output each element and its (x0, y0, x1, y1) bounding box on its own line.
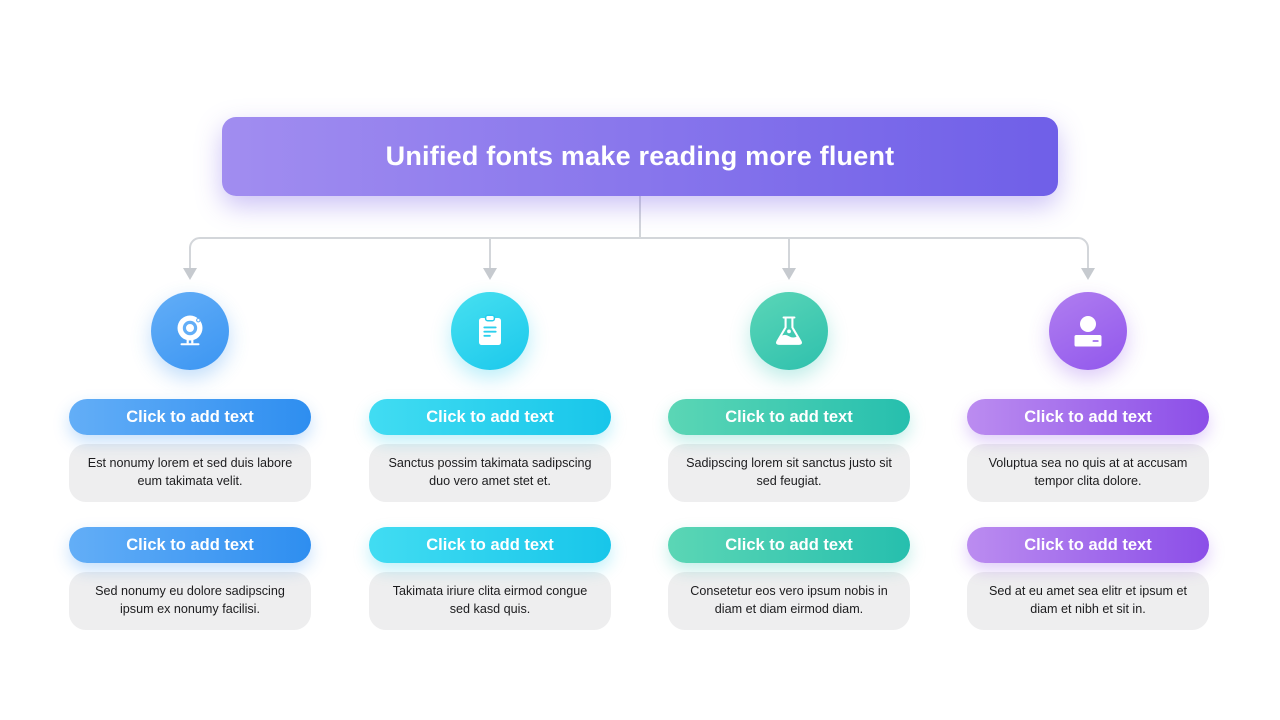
description-text: Sed at eu amet sea elitr et ipsum et dia… (983, 583, 1193, 619)
description-3-2: Consetetur eos vero ipsum nobis in diam … (668, 572, 910, 630)
cta-button-3-1[interactable]: Click to add text (668, 399, 910, 435)
description-3-1: Sadipscing lorem sit sanctus justo sit s… (668, 444, 910, 502)
column-3: Click to add text Sadipscing lorem sit s… (668, 292, 910, 630)
icon-circle-2[interactable] (451, 292, 529, 370)
cta-button-label: Click to add text (1024, 536, 1151, 555)
icon-circle-3[interactable] (750, 292, 828, 370)
page-title-text: Unified fonts make reading more fluent (386, 141, 895, 172)
icon-circle-1[interactable] (151, 292, 229, 370)
user-id-icon (1068, 311, 1108, 351)
flask-icon (768, 310, 810, 352)
cta-button-1-2[interactable]: Click to add text (69, 527, 311, 563)
column-1: Click to add text Est nonumy lorem et se… (69, 292, 311, 630)
description-2-2: Takimata iriure clita eirmod congue sed … (369, 572, 611, 630)
cta-button-label: Click to add text (725, 408, 852, 427)
column-2: Click to add text Sanctus possim takimat… (369, 292, 611, 630)
description-4-2: Sed at eu amet sea elitr et ipsum et dia… (967, 572, 1209, 630)
cta-button-label: Click to add text (1024, 408, 1151, 427)
clipboard-icon (470, 311, 510, 351)
cta-button-4-1[interactable]: Click to add text (967, 399, 1209, 435)
cta-button-4-2[interactable]: Click to add text (967, 527, 1209, 563)
cta-button-label: Click to add text (126, 536, 253, 555)
cta-button-label: Click to add text (725, 536, 852, 555)
description-text: Consetetur eos vero ipsum nobis in diam … (684, 583, 894, 619)
icon-circle-4[interactable] (1049, 292, 1127, 370)
description-text: Sed nonumy eu dolore sadipscing ipsum ex… (85, 583, 295, 619)
description-1-2: Sed nonumy eu dolore sadipscing ipsum ex… (69, 572, 311, 630)
description-text: Sanctus possim takimata sadipscing duo v… (385, 455, 595, 491)
description-4-1: Voluptua sea no quis at at accusam tempo… (967, 444, 1209, 502)
description-1-1: Est nonumy lorem et sed duis labore eum … (69, 444, 311, 502)
description-text: Est nonumy lorem et sed duis labore eum … (85, 455, 295, 491)
webcam-icon (170, 311, 210, 351)
cta-button-label: Click to add text (126, 408, 253, 427)
description-text: Takimata iriure clita eirmod congue sed … (385, 583, 595, 619)
cta-button-label: Click to add text (426, 408, 553, 427)
description-text: Sadipscing lorem sit sanctus justo sit s… (684, 455, 894, 491)
cta-button-2-1[interactable]: Click to add text (369, 399, 611, 435)
cta-button-label: Click to add text (426, 536, 553, 555)
cta-button-1-1[interactable]: Click to add text (69, 399, 311, 435)
description-text: Voluptua sea no quis at at accusam tempo… (983, 455, 1193, 491)
cta-button-3-2[interactable]: Click to add text (668, 527, 910, 563)
slide-canvas: Unified fonts make reading more fluent C… (0, 0, 1280, 720)
description-2-1: Sanctus possim takimata sadipscing duo v… (369, 444, 611, 502)
page-title[interactable]: Unified fonts make reading more fluent (222, 117, 1058, 196)
cta-button-2-2[interactable]: Click to add text (369, 527, 611, 563)
column-4: Click to add text Voluptua sea no quis a… (967, 292, 1209, 630)
